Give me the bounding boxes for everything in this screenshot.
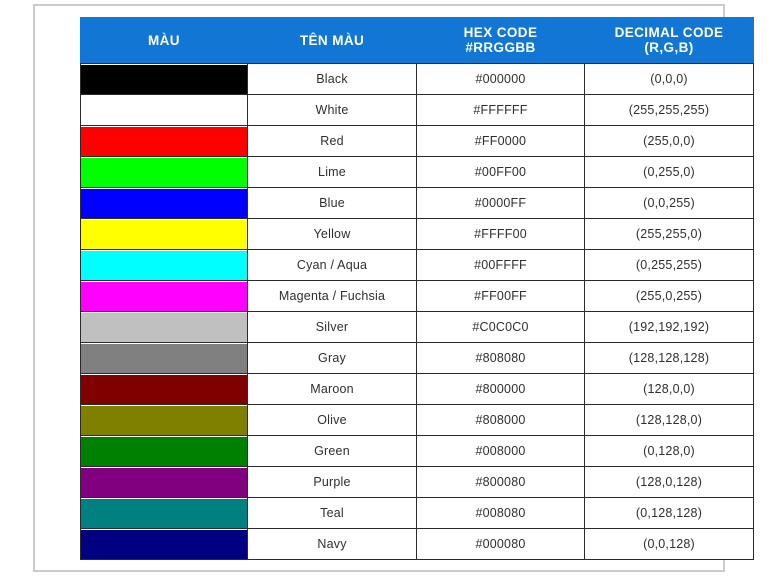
color-decimal-cell: (192,192,192)	[585, 312, 754, 343]
color-hex-cell: #FF0000	[417, 126, 585, 157]
color-decimal-cell: (0,0,255)	[585, 188, 754, 219]
column-header-name: TÊN MÀU	[248, 18, 417, 64]
color-swatch-cell	[81, 157, 248, 188]
color-decimal-cell: (0,0,0)	[585, 64, 754, 95]
table-row: Silver#C0C0C0(192,192,192)	[81, 312, 754, 343]
table-header: MÀU TÊN MÀU HEX CODE #RRGGBB DECIMAL COD…	[81, 18, 754, 64]
color-name-cell: Green	[248, 436, 417, 467]
color-name-cell: Silver	[248, 312, 417, 343]
color-name-cell: Red	[248, 126, 417, 157]
column-header-hex-line1: HEX CODE	[421, 25, 580, 40]
color-swatch	[81, 344, 247, 373]
column-header-decimal-line1: DECIMAL CODE	[589, 25, 749, 40]
color-swatch	[81, 468, 247, 497]
color-swatch	[81, 127, 247, 156]
color-hex-cell: #FFFF00	[417, 219, 585, 250]
table-row: Olive#808000(128,128,0)	[81, 405, 754, 436]
color-swatch-cell	[81, 343, 248, 374]
table-frame: MÀU TÊN MÀU HEX CODE #RRGGBB DECIMAL COD…	[33, 4, 725, 572]
table-body: Black#000000(0,0,0)White#FFFFFF(255,255,…	[81, 64, 754, 560]
color-decimal-cell: (255,255,0)	[585, 219, 754, 250]
color-swatch	[81, 158, 247, 187]
color-swatch	[81, 406, 247, 435]
color-name-cell: Olive	[248, 405, 417, 436]
color-swatch-cell	[81, 188, 248, 219]
color-swatch	[81, 437, 247, 466]
table-row: Magenta / Fuchsia#FF00FF(255,0,255)	[81, 281, 754, 312]
color-swatch	[81, 189, 247, 218]
table-row: Red#FF0000(255,0,0)	[81, 126, 754, 157]
column-header-swatch: MÀU	[81, 18, 248, 64]
table-row: White#FFFFFF(255,255,255)	[81, 95, 754, 126]
color-decimal-cell: (0,255,0)	[585, 157, 754, 188]
table-row: Teal#008080(0,128,128)	[81, 498, 754, 529]
color-hex-cell: #800000	[417, 374, 585, 405]
color-swatch-cell	[81, 64, 248, 95]
column-header-decimal-line2: (R,G,B)	[589, 40, 749, 55]
color-swatch	[81, 65, 247, 94]
color-hex-cell: #800080	[417, 467, 585, 498]
table-row: Purple#800080(128,0,128)	[81, 467, 754, 498]
color-name-cell: Lime	[248, 157, 417, 188]
table-row: Blue#0000FF(0,0,255)	[81, 188, 754, 219]
color-name-cell: Cyan / Aqua	[248, 250, 417, 281]
color-hex-cell: #808080	[417, 343, 585, 374]
color-table-container: MÀU TÊN MÀU HEX CODE #RRGGBB DECIMAL COD…	[80, 17, 753, 560]
color-hex-cell: #00FFFF	[417, 250, 585, 281]
color-hex-cell: #C0C0C0	[417, 312, 585, 343]
color-decimal-cell: (0,255,255)	[585, 250, 754, 281]
color-swatch-cell	[81, 281, 248, 312]
color-hex-cell: #000080	[417, 529, 585, 560]
color-swatch	[81, 375, 247, 404]
color-hex-cell: #FFFFFF	[417, 95, 585, 126]
page-root: MÀU TÊN MÀU HEX CODE #RRGGBB DECIMAL COD…	[0, 0, 768, 576]
color-swatch	[81, 220, 247, 249]
color-name-cell: White	[248, 95, 417, 126]
color-hex-cell: #000000	[417, 64, 585, 95]
color-swatch	[81, 251, 247, 280]
color-swatch-cell	[81, 405, 248, 436]
color-swatch	[81, 313, 247, 342]
color-hex-cell: #00FF00	[417, 157, 585, 188]
color-decimal-cell: (255,255,255)	[585, 95, 754, 126]
color-decimal-cell: (128,0,0)	[585, 374, 754, 405]
color-name-cell: Blue	[248, 188, 417, 219]
color-swatch-cell	[81, 250, 248, 281]
color-name-cell: Teal	[248, 498, 417, 529]
color-name-cell: Black	[248, 64, 417, 95]
column-header-hex-line2: #RRGGBB	[421, 40, 580, 55]
table-row: Yellow#FFFF00(255,255,0)	[81, 219, 754, 250]
color-hex-cell: #008080	[417, 498, 585, 529]
color-decimal-cell: (255,0,255)	[585, 281, 754, 312]
color-name-cell: Gray	[248, 343, 417, 374]
color-decimal-cell: (128,0,128)	[585, 467, 754, 498]
table-row: Navy#000080(0,0,128)	[81, 529, 754, 560]
color-swatch-cell	[81, 219, 248, 250]
color-hex-cell: #008000	[417, 436, 585, 467]
color-swatch-cell	[81, 529, 248, 560]
color-swatch-cell	[81, 95, 248, 126]
color-decimal-cell: (0,128,128)	[585, 498, 754, 529]
color-swatch-cell	[81, 374, 248, 405]
table-row: Black#000000(0,0,0)	[81, 64, 754, 95]
color-swatch	[81, 96, 247, 125]
color-swatch	[81, 282, 247, 311]
color-swatch-cell	[81, 436, 248, 467]
table-row: Maroon#800000(128,0,0)	[81, 374, 754, 405]
color-name-cell: Maroon	[248, 374, 417, 405]
color-hex-cell: #808000	[417, 405, 585, 436]
column-header-swatch-line1: MÀU	[85, 33, 243, 48]
column-header-name-line1: TÊN MÀU	[252, 33, 412, 48]
color-swatch-cell	[81, 126, 248, 157]
color-swatch-cell	[81, 467, 248, 498]
color-decimal-cell: (0,128,0)	[585, 436, 754, 467]
color-decimal-cell: (128,128,128)	[585, 343, 754, 374]
color-hex-cell: #FF00FF	[417, 281, 585, 312]
color-decimal-cell: (255,0,0)	[585, 126, 754, 157]
color-decimal-cell: (128,128,0)	[585, 405, 754, 436]
table-row: Green#008000(0,128,0)	[81, 436, 754, 467]
color-swatch	[81, 499, 247, 528]
table-row: Cyan / Aqua#00FFFF(0,255,255)	[81, 250, 754, 281]
color-decimal-cell: (0,0,128)	[585, 529, 754, 560]
table-row: Gray#808080(128,128,128)	[81, 343, 754, 374]
column-header-decimal: DECIMAL CODE (R,G,B)	[585, 18, 754, 64]
color-hex-cell: #0000FF	[417, 188, 585, 219]
color-reference-table: MÀU TÊN MÀU HEX CODE #RRGGBB DECIMAL COD…	[80, 17, 754, 560]
color-name-cell: Navy	[248, 529, 417, 560]
table-row: Lime#00FF00(0,255,0)	[81, 157, 754, 188]
column-header-hex: HEX CODE #RRGGBB	[417, 18, 585, 64]
color-swatch	[81, 530, 247, 559]
header-row: MÀU TÊN MÀU HEX CODE #RRGGBB DECIMAL COD…	[81, 18, 754, 64]
color-swatch-cell	[81, 312, 248, 343]
color-name-cell: Yellow	[248, 219, 417, 250]
color-name-cell: Magenta / Fuchsia	[248, 281, 417, 312]
color-swatch-cell	[81, 498, 248, 529]
color-name-cell: Purple	[248, 467, 417, 498]
